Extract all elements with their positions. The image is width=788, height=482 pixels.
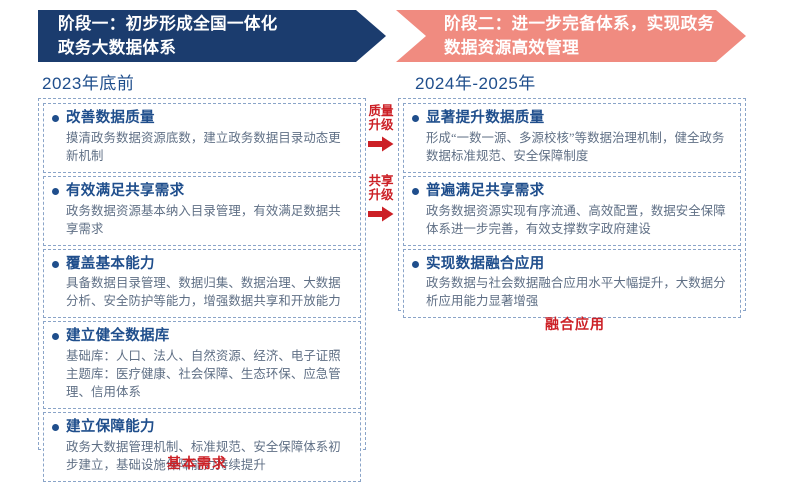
bullet-dot-icon bbox=[52, 115, 59, 122]
card-body: 形成“一数一源、多源校核”等数据治理机制，健全政务数据标准规范、安全保障制度 bbox=[412, 130, 732, 166]
transition-column: 质量 升级 共享 升级 bbox=[366, 100, 396, 222]
card-title: 建立健全数据库 bbox=[66, 327, 170, 346]
card-body: 基础库：人口、法人、自然资源、经济、电子证照 主题库：医疗健康、社会保障、生态环… bbox=[52, 348, 352, 402]
phase2-banner-title: 阶段二：进一步完备体系，实现政务 数据资源高效管理 bbox=[444, 12, 714, 60]
list-item: 实现数据融合应用 政务数据与社会数据融合应用水平大幅提升，大数据分析应用能力显著… bbox=[403, 249, 741, 319]
list-item: 普遍满足共享需求 政务数据资源实现有序流通、高效配置，数据安全保障体系进一步完善… bbox=[403, 176, 741, 246]
transition-sharing: 共享 升级 bbox=[366, 174, 396, 222]
card-title: 建立保障能力 bbox=[66, 418, 155, 437]
card-header: 显著提升数据质量 bbox=[412, 109, 732, 128]
phase1-year-label: 2023年底前 bbox=[42, 69, 134, 94]
transition-label: 质量 升级 bbox=[368, 104, 393, 133]
phase1-banner: 阶段一：初步形成全国一体化 政务大数据体系 bbox=[38, 10, 386, 62]
card-body: 政务数据资源实现有序流通、高效配置，数据安全保障体系进一步完善，有效支撑数字政府… bbox=[412, 203, 732, 239]
phase2-banner: 阶段二：进一步完备体系，实现政务 数据资源高效管理 bbox=[396, 10, 746, 62]
phase1-banner-title: 阶段一：初步形成全国一体化 政务大数据体系 bbox=[58, 12, 278, 60]
card-header: 建立健全数据库 bbox=[52, 327, 352, 346]
list-item: 建立健全数据库 基础库：人口、法人、自然资源、经济、电子证照 主题库：医疗健康、… bbox=[43, 321, 361, 409]
card-body: 政务数据与社会数据融合应用水平大幅提升，大数据分析应用能力显著增强 bbox=[412, 275, 732, 311]
card-title: 实现数据融合应用 bbox=[426, 255, 544, 274]
list-item: 有效满足共享需求 政务数据资源基本纳入目录管理，有效满足数据共享需求 bbox=[43, 176, 361, 246]
card-header: 实现数据融合应用 bbox=[412, 255, 732, 274]
arrow-right-icon bbox=[368, 206, 394, 222]
bullet-dot-icon bbox=[412, 188, 419, 195]
arrow-right-icon bbox=[368, 136, 394, 152]
phase2-caption: 融合应用 bbox=[545, 314, 605, 334]
card-body: 具备数据目录管理、数据归集、数据治理、大数据分析、安全防护等能力，增强数据共享和… bbox=[52, 275, 352, 311]
bullet-dot-icon bbox=[412, 261, 419, 268]
phase1-item-list: 改善数据质量 摸清政务数据资源底数，建立政务数据目录动态更新机制 有效满足共享需… bbox=[38, 98, 366, 450]
card-header: 普遍满足共享需求 bbox=[412, 182, 732, 201]
infographic-root: 阶段一：初步形成全国一体化 政务大数据体系 阶段二：进一步完备体系，实现政务 数… bbox=[0, 0, 788, 476]
card-title: 覆盖基本能力 bbox=[66, 255, 155, 274]
card-header: 建立保障能力 bbox=[52, 418, 352, 437]
card-title: 改善数据质量 bbox=[66, 109, 155, 128]
list-item: 改善数据质量 摸清政务数据资源底数，建立政务数据目录动态更新机制 bbox=[43, 103, 361, 173]
card-header: 覆盖基本能力 bbox=[52, 255, 352, 274]
bullet-dot-icon bbox=[52, 188, 59, 195]
bullet-dot-icon bbox=[52, 424, 59, 431]
phase1-caption: 基本需求 bbox=[167, 453, 227, 473]
card-title: 显著提升数据质量 bbox=[426, 109, 544, 128]
transition-label: 共享 升级 bbox=[368, 174, 393, 203]
card-header: 改善数据质量 bbox=[52, 109, 352, 128]
bullet-dot-icon bbox=[52, 261, 59, 268]
transition-quality: 质量 升级 bbox=[366, 104, 396, 152]
card-title: 普遍满足共享需求 bbox=[426, 182, 544, 201]
list-item: 覆盖基本能力 具备数据目录管理、数据归集、数据治理、大数据分析、安全防护等能力，… bbox=[43, 249, 361, 319]
bullet-dot-icon bbox=[52, 333, 59, 340]
phase2-item-list: 显著提升数据质量 形成“一数一源、多源校核”等数据治理机制，健全政务数据标准规范… bbox=[398, 98, 746, 311]
phase2-year-label: 2024年-2025年 bbox=[415, 69, 536, 94]
bullet-dot-icon bbox=[412, 115, 419, 122]
card-body: 政务数据资源基本纳入目录管理，有效满足数据共享需求 bbox=[52, 203, 352, 239]
list-item: 显著提升数据质量 形成“一数一源、多源校核”等数据治理机制，健全政务数据标准规范… bbox=[403, 103, 741, 173]
card-body: 摸清政务数据资源底数，建立政务数据目录动态更新机制 bbox=[52, 130, 352, 166]
card-header: 有效满足共享需求 bbox=[52, 182, 352, 201]
card-title: 有效满足共享需求 bbox=[66, 182, 184, 201]
